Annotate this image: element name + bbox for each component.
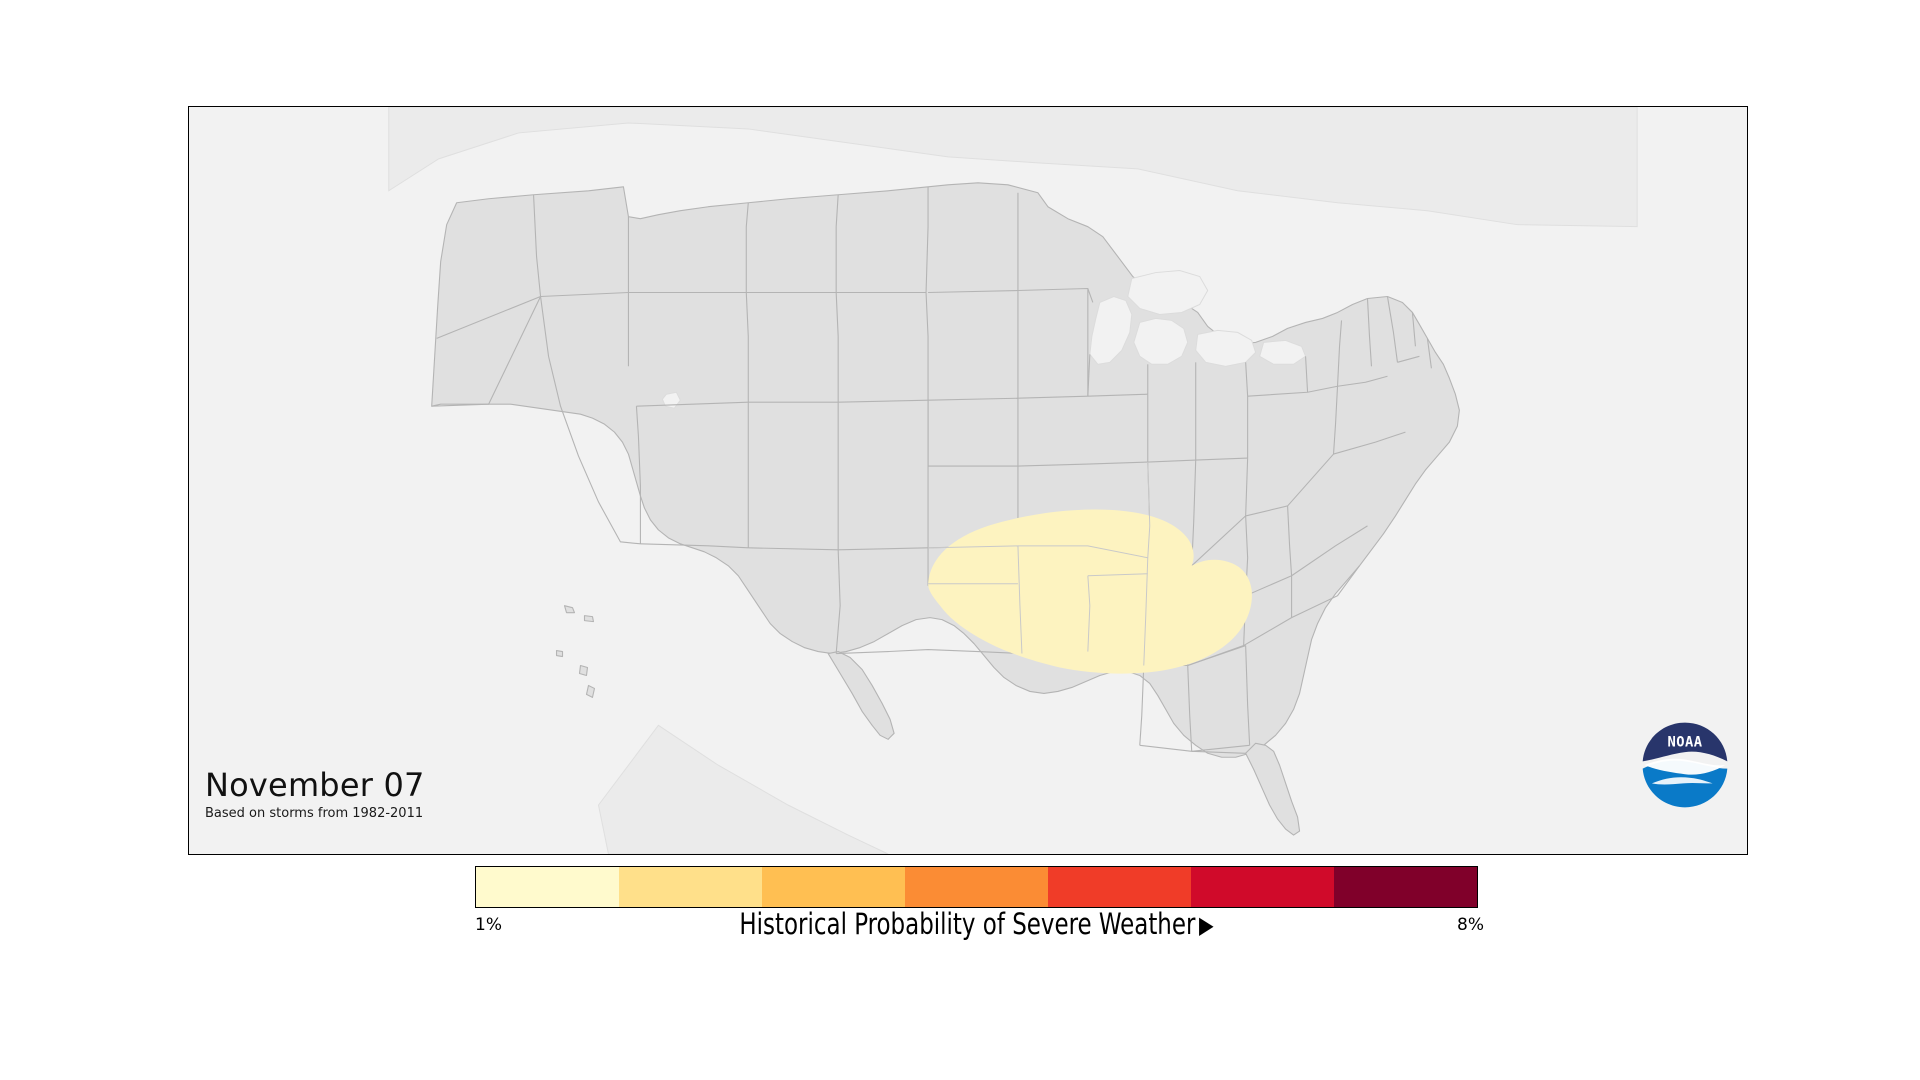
map-frame[interactable]: .land { fill:#e0e0e0; stroke:#b4b4b4; st…	[188, 106, 1748, 855]
legend-labels-row: 1% Historical Probability of Severe Weat…	[475, 911, 1478, 947]
legend-caption: Historical Probability of Severe Weather…	[535, 907, 1418, 941]
colorbar-band-2[interactable]	[619, 867, 762, 907]
legend-next-arrow-icon[interactable]: ▶	[1199, 911, 1214, 939]
colorbar-band-4[interactable]	[905, 867, 1048, 907]
noaa-logo: NOAA	[1639, 719, 1731, 811]
page-root: .land { fill:#e0e0e0; stroke:#b4b4b4; st…	[0, 0, 1920, 1080]
legend-caption-text: Historical Probability of Severe Weather	[739, 907, 1195, 941]
colorbar-band-7[interactable]	[1334, 867, 1477, 907]
colorbar-band-6[interactable]	[1191, 867, 1334, 907]
legend-max-label: 8%	[1457, 915, 1484, 935]
colorbar-band-5[interactable]	[1048, 867, 1191, 907]
colorbar[interactable]	[475, 866, 1478, 908]
colorbar-band-3[interactable]	[762, 867, 905, 907]
legend-min-label: 1%	[475, 915, 502, 935]
noaa-logo-svg: NOAA	[1639, 719, 1731, 811]
colorbar-band-1[interactable]	[476, 867, 619, 907]
noaa-logo-text: NOAA	[1667, 735, 1702, 751]
us-map-svg[interactable]: .land { fill:#e0e0e0; stroke:#b4b4b4; st…	[189, 107, 1747, 854]
legend: 1% Historical Probability of Severe Weat…	[475, 866, 1478, 947]
